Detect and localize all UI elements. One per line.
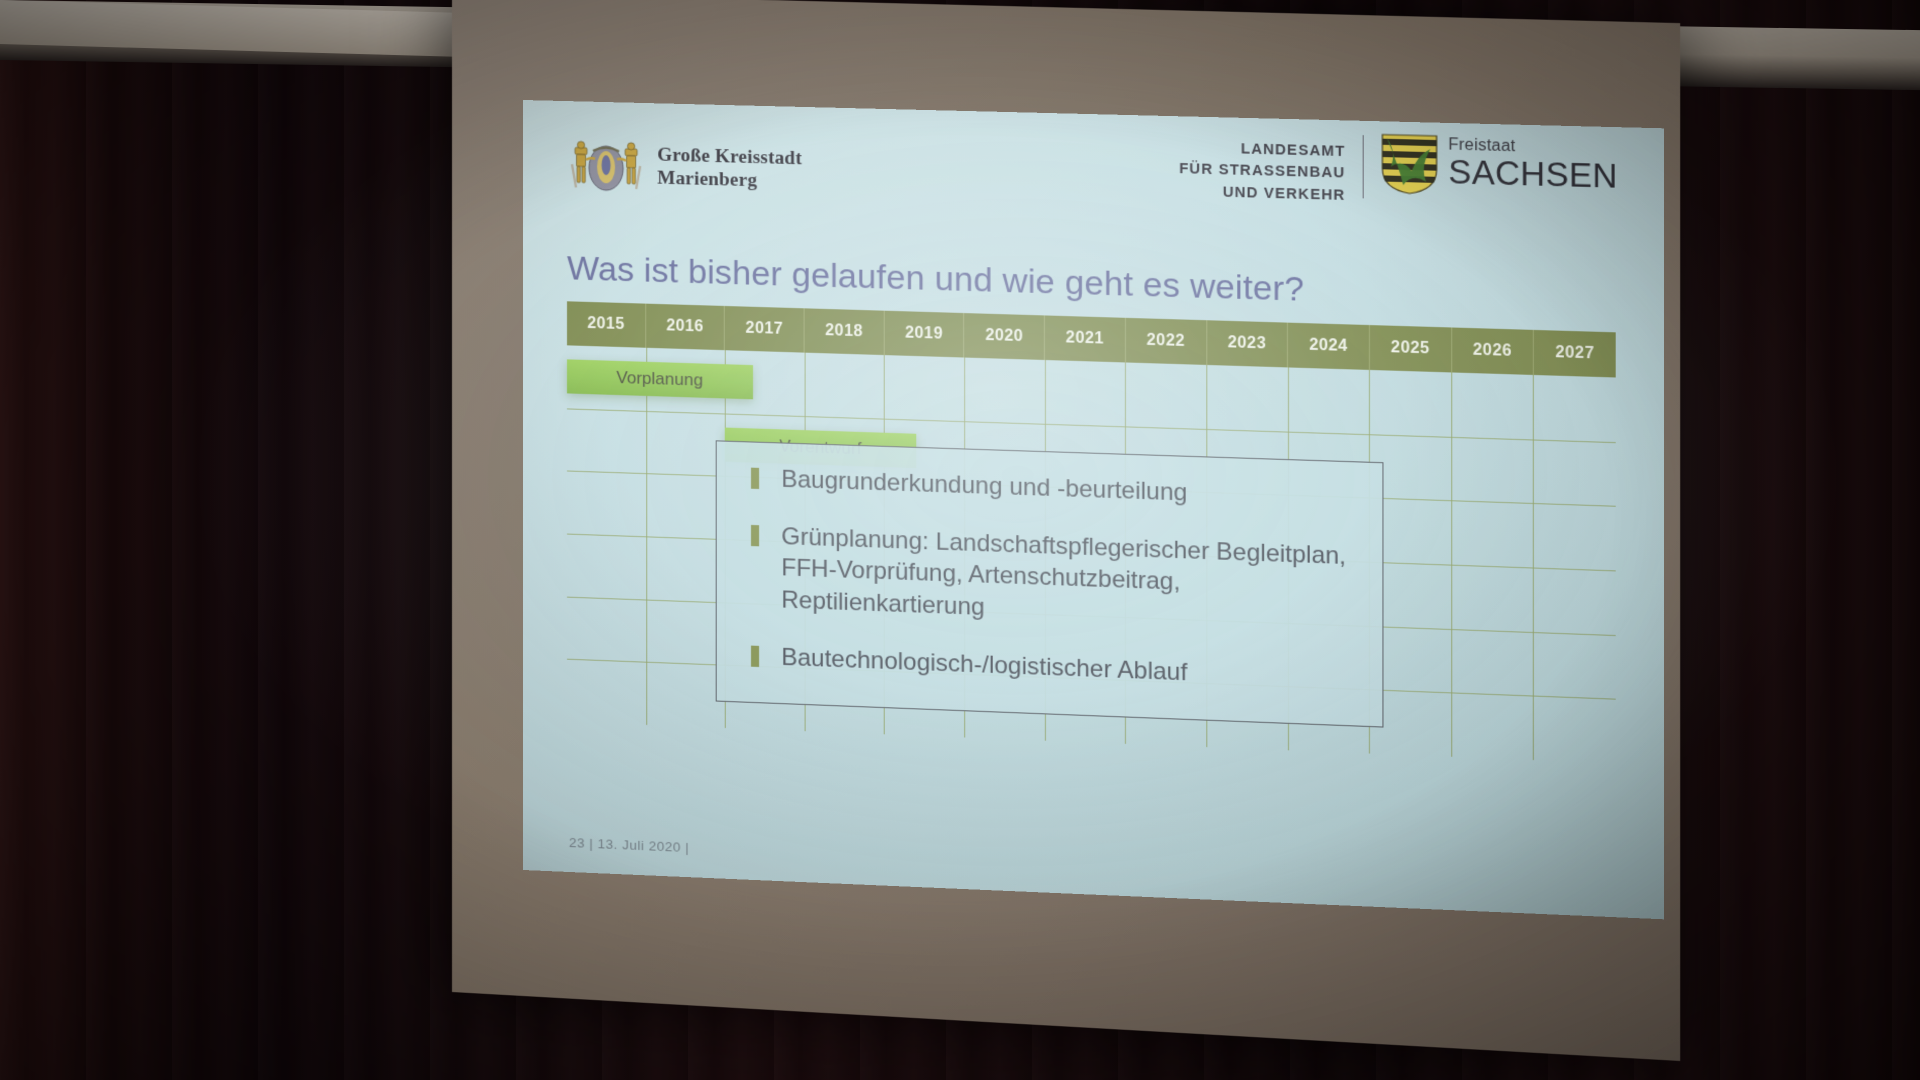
marienberg-logo-text: Große Kreisstadt Marienberg (657, 143, 802, 193)
slide-title: Was ist bisher gelaufen und wie geht es … (567, 249, 1342, 311)
year-cell-2018: 2018 (805, 308, 885, 355)
year-cell-2023: 2023 (1207, 320, 1288, 367)
year-cell-2021: 2021 (1045, 315, 1126, 362)
lasuv-line-2: FÜR STRASSENBAU (1179, 159, 1345, 185)
lasuv-office-text: LANDESAMT FÜR STRASSENBAU UND VERKEHR (1179, 124, 1345, 207)
year-cell-2017: 2017 (725, 306, 805, 353)
bullet-marker-icon (751, 468, 759, 489)
callout-item: Baugrunderkundung und -beurteilung (751, 463, 1366, 515)
marienberg-line-2: Marienberg (657, 167, 802, 194)
logo-divider (1363, 135, 1364, 198)
presentation-slide: Große Kreisstadt Marienberg LANDESAMT FÜ… (523, 100, 1664, 919)
year-cell-2027: 2027 (1534, 330, 1616, 378)
year-cell-2015: 2015 (567, 301, 646, 347)
year-cell-2016: 2016 (646, 304, 725, 351)
callout-item-text: Baugrunderkundung und -beurteilung (781, 464, 1187, 509)
sachsen-label: SACHSEN (1448, 155, 1617, 193)
callout-box: Baugrunderkundung und -beurteilungGrünpl… (716, 440, 1384, 727)
bullet-marker-icon (751, 525, 759, 546)
sachsen-wordmark: Freistaat SACHSEN (1448, 133, 1617, 193)
saxony-coat-of-arms-icon (1381, 131, 1439, 196)
callout-item-text: Bautechnologisch-/logistischer Ablauf (781, 641, 1187, 688)
year-cell-2025: 2025 (1370, 325, 1452, 372)
year-cell-2022: 2022 (1126, 318, 1207, 365)
slide-footer: 23 | 13. Juli 2020 | (569, 835, 689, 855)
gantt-bar-vorplanung: Vorplanung (567, 360, 753, 400)
projected-slide-scene: Große Kreisstadt Marienberg LANDESAMT FÜ… (0, 0, 1920, 1080)
projection-screen-surface: Große Kreisstadt Marienberg LANDESAMT FÜ… (523, 100, 1664, 919)
year-cell-2024: 2024 (1288, 323, 1370, 370)
callout-item: Bautechnologisch-/logistischer Ablauf (751, 640, 1366, 695)
year-cell-2019: 2019 (884, 311, 964, 358)
marienberg-coat-of-arms-icon (567, 133, 645, 197)
callout-item: Grünplanung: Landschaftspflegerischer Be… (751, 520, 1366, 637)
bullet-marker-icon (751, 645, 759, 666)
lasuv-sachsen-logo: LANDESAMT FÜR STRASSENBAU UND VERKEHR (1179, 124, 1618, 214)
slide-header: Große Kreisstadt Marienberg LANDESAMT FÜ… (523, 100, 1664, 262)
year-cell-2026: 2026 (1452, 327, 1534, 374)
callout-item-text: Grünplanung: Landschaftspflegerischer Be… (781, 521, 1365, 637)
marienberg-logo: Große Kreisstadt Marienberg (567, 133, 802, 201)
year-cell-2020: 2020 (965, 313, 1045, 360)
callout-bullet-list: Baugrunderkundung und -beurteilungGrünpl… (751, 463, 1366, 696)
lasuv-line-3: UND VERKEHR (1179, 181, 1345, 207)
freistaat-sachsen-block: Freistaat SACHSEN (1381, 129, 1618, 201)
